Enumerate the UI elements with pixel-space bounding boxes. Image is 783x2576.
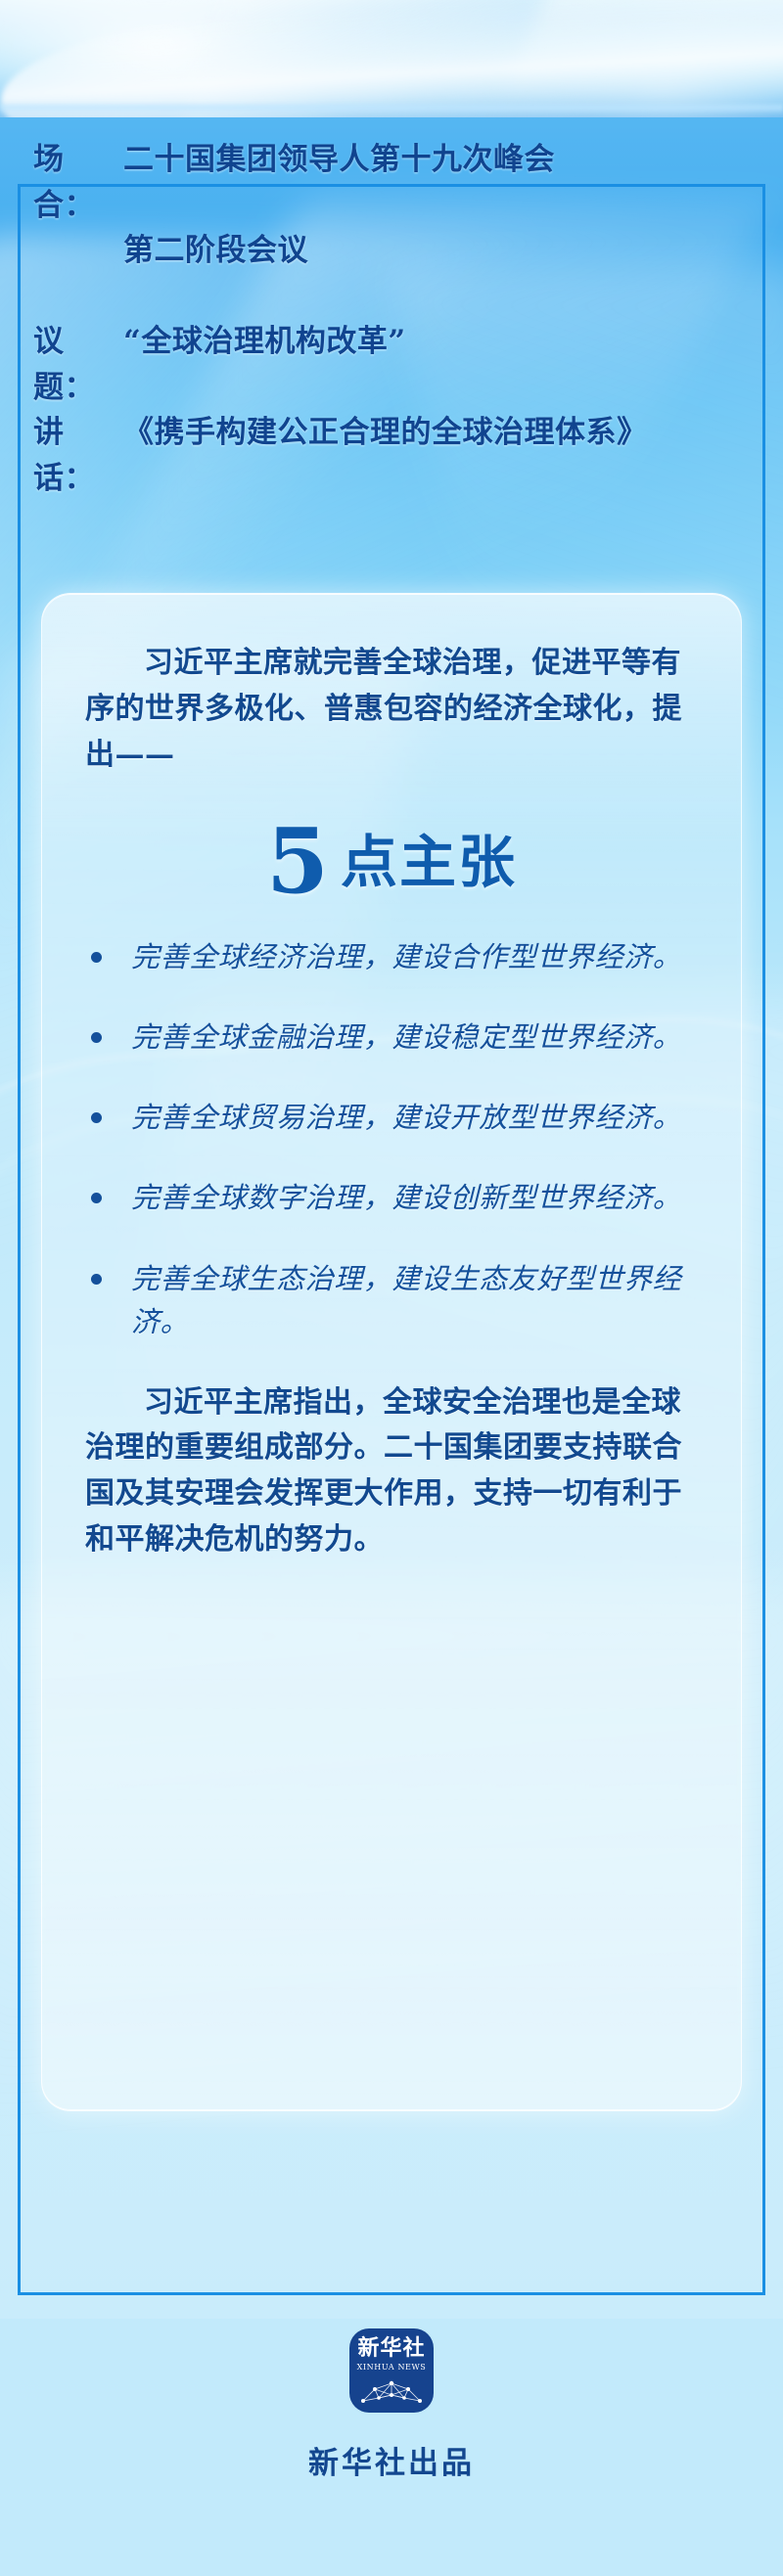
headline-block: 5 点主张 [85,821,698,902]
bullet-dot-icon [91,952,102,963]
list-item: 完善全球贸易治理，建设开放型世界经济。 [85,1096,698,1139]
intro-paragraph: 习近平主席就完善全球治理，促进平等有序的世界多极化、普惠包容的经济全球化，提出—… [85,641,698,778]
credit-text: 新华社出品 [308,2438,475,2482]
header-row-speech: 讲话： 《携手构建公正合理的全球治理体系》 [33,410,750,501]
header-label-topic: 议题： [33,319,123,410]
point-text: 完善全球贸易治理，建设开放型世界经济。 [131,1096,698,1139]
footer-block: 新华社 XINHUA NEWS [0,2328,783,2482]
headline-text: 点主张 [341,834,517,890]
header-meta-block: 场合： 二十国集团领导人第十九次峰会 场合： 第二阶段会议 议题： “全球治理机… [0,137,783,501]
point-text: 完善全球经济治理，建设合作型世界经济。 [131,935,698,978]
list-item: 完善全球金融治理，建设稳定型世界经济。 [85,1016,698,1059]
header-value-topic: “全球治理机构改革” [123,319,750,365]
point-text: 完善全球数字治理，建设创新型世界经济。 [131,1176,698,1219]
list-item: 完善全球数字治理，建设创新型世界经济。 [85,1176,698,1219]
header-value-speech: 《携手构建公正合理的全球治理体系》 [123,410,750,456]
bullet-dot-icon [91,1193,102,1203]
poster-root: 场合： 二十国集团领导人第十九次峰会 场合： 第二阶段会议 议题： “全球治理机… [0,0,783,2576]
points-list: 完善全球经济治理，建设合作型世界经济。 完善全球金融治理，建设稳定型世界经济。 … [85,935,698,1342]
header-value-occasion-cont: 第二阶段会议 [123,228,750,274]
bullet-dot-icon [91,1274,102,1285]
list-item: 完善全球生态治理，建设生态友好型世界经济。 [85,1257,698,1343]
list-item: 完善全球经济治理，建设合作型世界经济。 [85,935,698,978]
header-label-occasion: 场合： [33,137,123,228]
bullet-dot-icon [91,1112,102,1123]
network-globe-icon [349,2372,434,2407]
outro-paragraph: 习近平主席指出，全球安全治理也是全球治理的重要组成部分。二十国集团要支持联合国及… [85,1380,698,1563]
header-row-occasion: 场合： 二十国集团领导人第十九次峰会 [33,137,750,228]
header-label-speech: 讲话： [33,410,123,501]
content-card: 习近平主席就完善全球治理，促进平等有序的世界多极化、普惠包容的经济全球化，提出—… [41,593,742,2111]
point-text: 完善全球生态治理，建设生态友好型世界经济。 [131,1257,698,1343]
header-row-topic: 议题： “全球治理机构改革” [33,319,750,410]
logo-chinese-name: 新华社 [357,2338,425,2360]
header-value-occasion: 二十国集团领导人第十九次峰会 [123,137,750,183]
logo-english-name: XINHUA NEWS [357,2364,427,2372]
header-row-occasion-cont: 场合： 第二阶段会议 [33,228,750,319]
top-banner-decoration [0,0,783,129]
point-text: 完善全球金融治理，建设稳定型世界经济。 [131,1016,698,1059]
headline-number: 5 [266,821,329,902]
bullet-dot-icon [91,1032,102,1043]
xinhua-logo-icon: 新华社 XINHUA NEWS [349,2328,434,2413]
